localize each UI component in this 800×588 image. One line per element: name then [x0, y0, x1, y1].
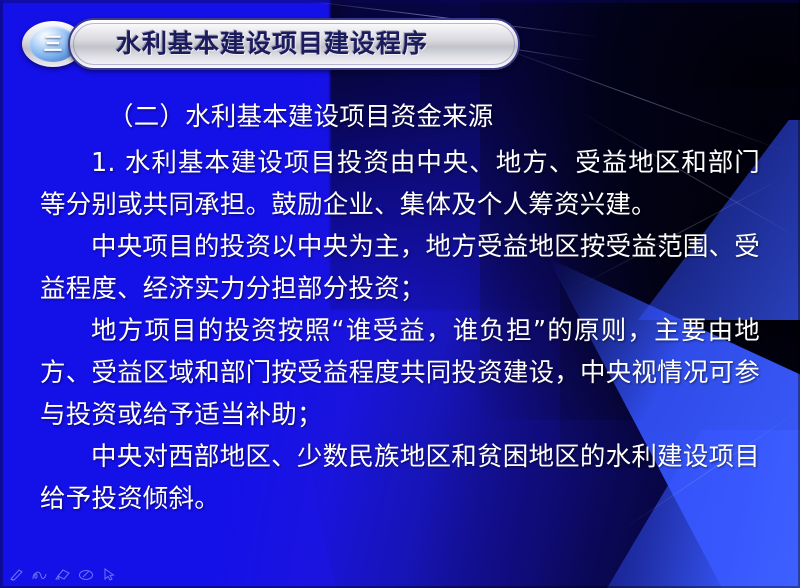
presentation-slide: 三 水利基本建设项目建设程序 （二）水利基本建设项目资金来源 1. 水利基本建设…: [0, 0, 800, 588]
section-number-label: 三: [43, 35, 62, 54]
eraser-icon[interactable]: [77, 567, 95, 582]
body-paragraph-4: 中央对西部地区、少数民族地区和贫困地区的水利建设项目给予投资倾斜。: [40, 436, 760, 520]
slide-title-bar: 三 水利基本建设项目建设程序: [22, 18, 522, 72]
slide-body: （二）水利基本建设项目资金来源 1. 水利基本建设项目投资由中央、地方、受益地区…: [40, 96, 760, 520]
body-paragraph-2: 中央项目的投资以中央为主，地方受益地区按受益范围、受益程度、经济实力分担部分投资…: [40, 226, 760, 310]
pen-icon[interactable]: [8, 567, 26, 582]
page-title: 水利基本建设项目建设程序: [116, 18, 428, 70]
body-paragraph-1: 1. 水利基本建设项目投资由中央、地方、受益地区和部门等分别或共同承担。鼓励企业…: [40, 142, 760, 226]
pointer-icon[interactable]: [100, 567, 118, 582]
highlighter-icon[interactable]: [54, 567, 72, 582]
section-heading: （二）水利基本建设项目资金来源: [40, 96, 760, 138]
body-paragraph-3: 地方项目的投资按照“谁受益，谁负担”的原则，主要由地方、受益区域和部门按受益程度…: [40, 310, 760, 436]
annotation-toolbar[interactable]: [8, 567, 118, 582]
scribble-icon[interactable]: [31, 567, 49, 582]
